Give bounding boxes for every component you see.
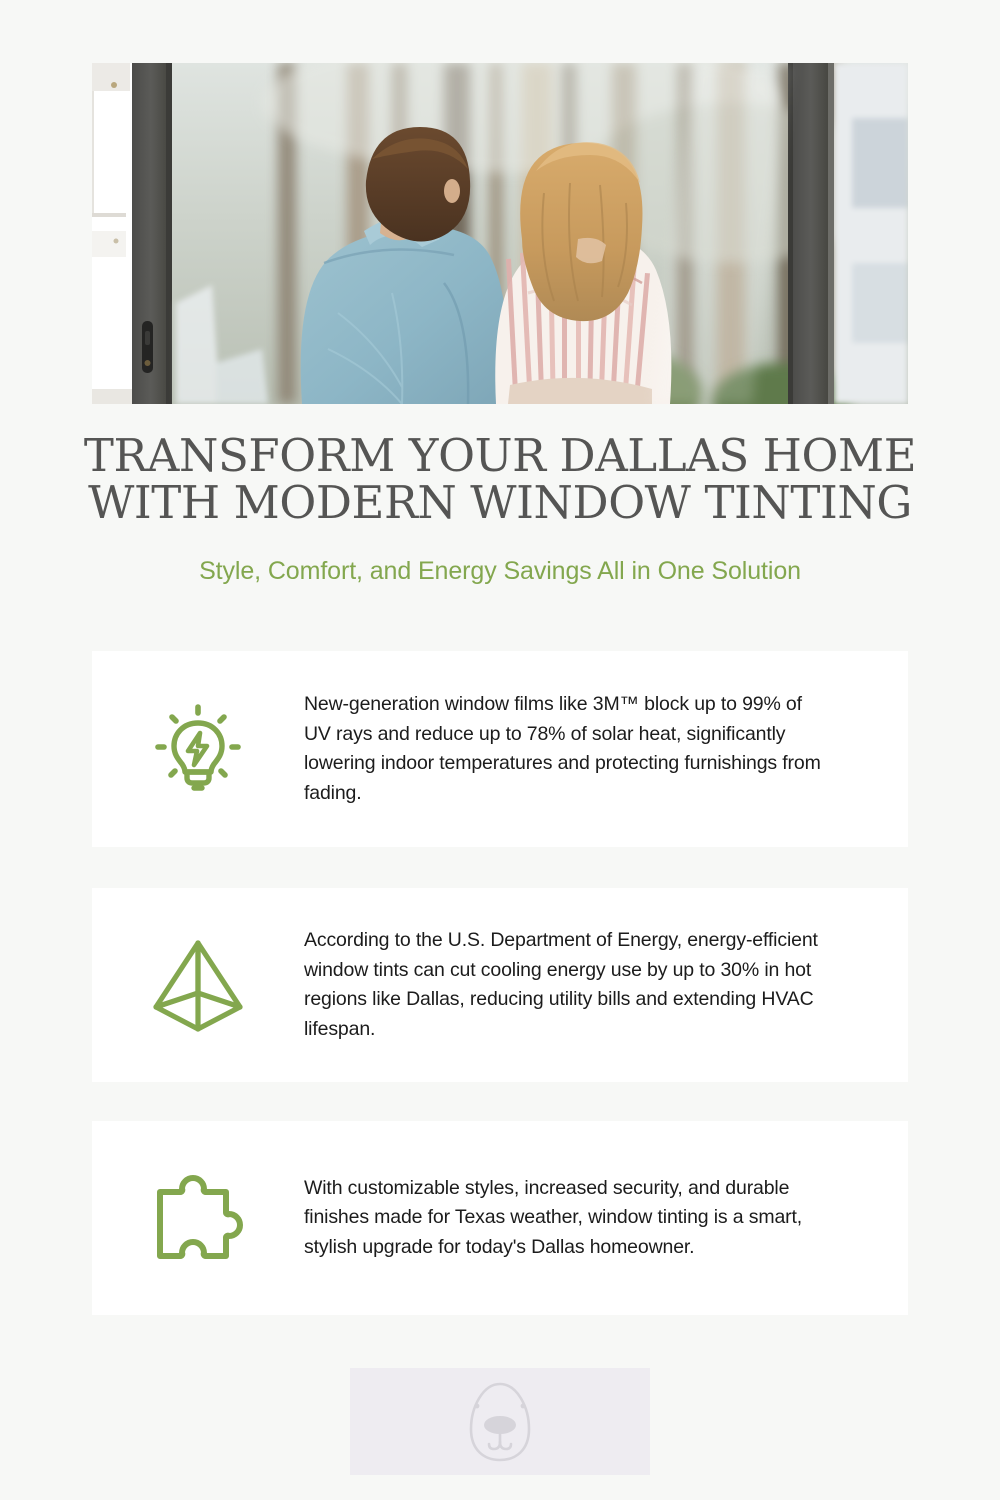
lightbulb-bolt-icon	[92, 701, 304, 797]
title-block: TRANSFORM YOUR DALLAS HOME WITH MODERN W…	[50, 432, 950, 586]
footer-logo-placeholder	[350, 1368, 650, 1475]
puzzle-piece-icon	[92, 1168, 304, 1268]
hero-photo	[92, 63, 908, 404]
fact-card-text: According to the U.S. Department of Ener…	[304, 926, 908, 1044]
fact-card-text: With customizable styles, increased secu…	[304, 1174, 908, 1263]
page-subtitle: Style, Comfort, and Energy Savings All i…	[50, 556, 950, 586]
fact-card: With customizable styles, increased secu…	[92, 1121, 908, 1315]
fact-card: According to the U.S. Department of Ener…	[92, 888, 908, 1082]
fact-card: New-generation window films like 3M™ blo…	[92, 651, 908, 847]
pyramid-wireframe-icon	[92, 935, 304, 1035]
page-title-line-2: WITH MODERN WINDOW TINTING	[50, 479, 950, 526]
infographic-page: TRANSFORM YOUR DALLAS HOME WITH MODERN W…	[0, 0, 1000, 1500]
bear-face-logo-placeholder	[465, 1379, 535, 1465]
page-title-line-1: TRANSFORM YOUR DALLAS HOME	[50, 432, 950, 479]
family-at-window-photo	[92, 63, 908, 404]
fact-card-text: New-generation window films like 3M™ blo…	[304, 690, 908, 808]
